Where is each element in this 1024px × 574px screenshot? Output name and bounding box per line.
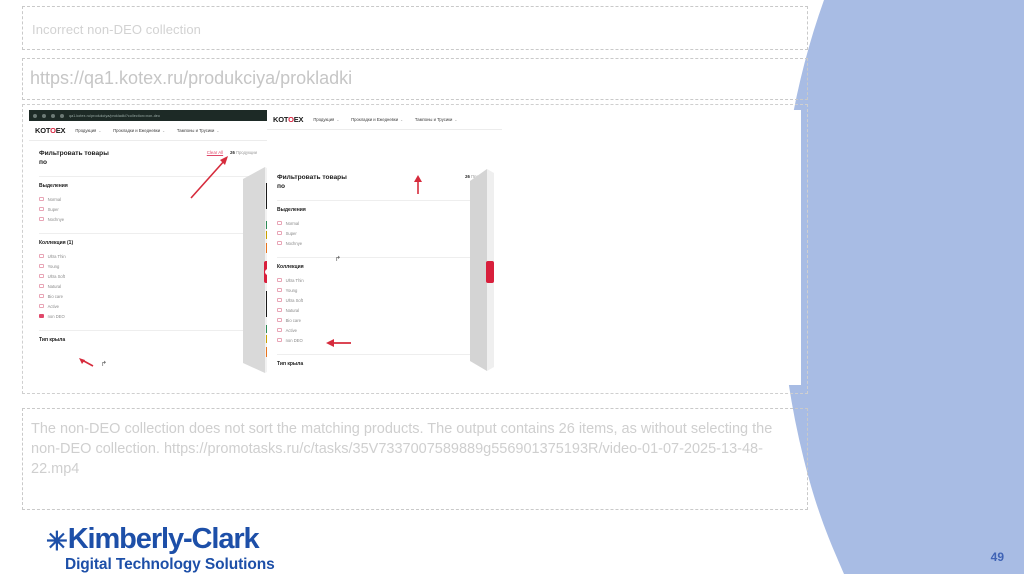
filter-group-title: Выделения (39, 183, 68, 189)
filter-option[interactable]: Super (277, 228, 492, 238)
screenshot-left-pane: qa1.kotex.ru/produkciya/prokladki?collec… (29, 110, 267, 385)
browser-reload-icon[interactable] (51, 114, 55, 118)
filter-group-title: Выделения (277, 207, 306, 213)
nav-label: Прокладки и Ежедневки (351, 117, 398, 122)
checkbox-icon[interactable] (39, 274, 44, 279)
filter-options: Normal Super Nochnye (39, 194, 257, 224)
nav-item-produkciya[interactable]: Продукция ⌄ (313, 117, 339, 122)
kotex-logo-kot: KOT (35, 126, 50, 135)
filter-group-kollekciya: Коллекция (1) ∧ Ultra Thin Young (39, 233, 257, 321)
filter-option-label: Super (286, 231, 297, 236)
filter-option[interactable]: Active (277, 325, 492, 335)
product-count-number: 26 (230, 150, 235, 155)
filter-group-vydeleniya: Выделения ∧ Normal Super (277, 200, 492, 248)
checkbox-icon[interactable] (277, 288, 282, 293)
filter-group-tip-kryla: Тип крыла ∧ (277, 354, 492, 367)
chevron-down-icon: ⌄ (216, 129, 219, 133)
kotex-logo[interactable]: KOTOEX (273, 115, 303, 124)
chevron-down-icon: ⌄ (454, 118, 457, 122)
nav-item-tampony[interactable]: Тампоны и Трусики ⌄ (415, 117, 457, 122)
brand-tagline: Digital Technology Solutions (65, 556, 275, 573)
filter-group-tip-kryla: Тип крыла ∧ (39, 330, 257, 343)
checkbox-icon[interactable] (277, 298, 282, 303)
filter-option[interactable]: Nochnye (39, 214, 257, 224)
slide-canvas: Incorrect non-DEO collection https://qa1… (0, 0, 1024, 574)
nav-label: Продукция (313, 117, 334, 122)
kimberly-clark-logo: ✳Kimberly-Clark Digital Technology Solut… (46, 524, 275, 573)
browser-address-input[interactable]: qa1.kotex.ru/produkciya/prokladki?collec… (69, 114, 160, 118)
filter-group-header[interactable]: Тип крыла ∧ (39, 337, 257, 343)
checkbox-icon[interactable] (39, 304, 44, 309)
nav-item-tampony[interactable]: Тампоны и Трусики ⌄ (177, 128, 219, 133)
checkbox-icon[interactable] (277, 318, 282, 323)
page-title: Incorrect non-DEO collection (32, 22, 201, 37)
filter-title: Фильтровать товары по (277, 173, 347, 191)
filter-option[interactable]: Bio care (39, 291, 257, 301)
filter-option-label: Normal (48, 197, 62, 202)
clear-all-button[interactable]: Clear All (207, 150, 223, 155)
chevron-down-icon: ⌄ (336, 118, 339, 122)
filter-group-title: Тип крыла (277, 361, 303, 367)
filter-group-header[interactable]: Выделения ∧ (39, 183, 257, 189)
page-number: 49 (991, 550, 1004, 564)
filter-header-left: Фильтровать товары по Clear All 26 Проду… (39, 149, 257, 167)
filter-group-title: Коллекция (1) (39, 240, 73, 246)
page-url[interactable]: https://qa1.kotex.ru/produkciya/prokladk… (30, 68, 352, 89)
filter-option[interactable]: Normal (277, 218, 492, 228)
browser-toolbar: qa1.kotex.ru/produkciya/prokladki?collec… (29, 110, 267, 121)
checkbox-icon[interactable] (39, 217, 44, 222)
filter-option[interactable]: Natural (39, 281, 257, 291)
chevron-down-icon: ⌄ (98, 129, 101, 133)
filter-option[interactable]: Natural (277, 305, 492, 315)
filter-option-non-deo[interactable]: non DEO (277, 335, 492, 345)
brand-name: Kimberly-Clark (68, 523, 259, 555)
site-nav-right: Продукция ⌄ Прокладки и Ежедневки ⌄ Тамп… (313, 117, 457, 122)
filter-option-label: Young (48, 264, 60, 269)
filter-option[interactable]: Super (39, 204, 257, 214)
filter-header-actions: Clear All 26 Продукции (207, 149, 257, 155)
browser-forward-icon[interactable] (42, 114, 46, 118)
filter-group-title: Коллекция (277, 264, 304, 270)
filter-option-non-deo[interactable]: non DEO (39, 311, 257, 321)
filter-option-label: Active (286, 328, 297, 333)
filter-group-header[interactable]: Тип крыла ∧ (277, 361, 492, 367)
nav-label: Прокладки и Ежедневки (113, 128, 160, 133)
nav-item-prokladki[interactable]: Прокладки и Ежедневки ⌄ (351, 117, 403, 122)
checkbox-icon[interactable] (277, 231, 282, 236)
filter-option-label: non DEO (48, 314, 65, 319)
filter-option-label: Young (286, 288, 298, 293)
nav-item-prokladki[interactable]: Прокладки и Ежедневки ⌄ (113, 128, 165, 133)
filter-option-label: Ultra Soft (48, 274, 65, 279)
filter-option[interactable]: Active (39, 301, 257, 311)
filter-options: Normal Super Nochnye (277, 218, 492, 248)
filter-group-title: Тип крыла (39, 337, 65, 343)
checkbox-icon[interactable] (277, 328, 282, 333)
filter-option-label: Active (48, 304, 59, 309)
site-header-right: KOTOEX Продукция ⌄ Прокладки и Ежедневки… (267, 110, 502, 130)
checkbox-icon[interactable] (39, 197, 44, 202)
filter-option[interactable]: Nochnye (277, 238, 492, 248)
kotex-logo[interactable]: KOTOEX (35, 126, 65, 135)
product-pack-image-right (467, 165, 497, 377)
browser-back-icon[interactable] (33, 114, 37, 118)
filter-option-label: Natural (48, 284, 62, 289)
embedded-screenshot: qa1.kotex.ru/produkciya/prokladki?collec… (29, 110, 801, 385)
checkbox-icon[interactable] (277, 338, 282, 343)
filter-option[interactable]: Young (39, 261, 257, 271)
filter-option[interactable]: Normal (39, 194, 257, 204)
product-count: 26 Продукции (230, 150, 257, 155)
product-count-label: Продукции (236, 150, 257, 155)
filter-option[interactable]: Ultra Soft (39, 271, 257, 281)
filter-options: Ultra Thin Young Ultra Soft Natural (277, 275, 492, 345)
nav-label: Тампоны и Трусики (415, 117, 452, 122)
checkbox-icon[interactable] (277, 221, 282, 226)
filter-option-label: Nochnye (286, 241, 303, 246)
filter-option-label: Natural (286, 308, 300, 313)
kotex-logo-ex: EX (294, 115, 304, 124)
filter-option-label: Bio care (48, 294, 63, 299)
checkbox-checked-icon[interactable] (39, 314, 44, 319)
checkbox-icon[interactable] (39, 254, 44, 259)
filter-option[interactable]: Ultra Thin (39, 251, 257, 261)
filter-group-header[interactable]: Коллекция (1) ∧ (39, 240, 257, 246)
nav-item-produkciya[interactable]: Продукция ⌄ (75, 128, 101, 133)
filter-group-kollekciya: Коллекция ∧ Ultra Thin Young (277, 257, 492, 345)
filter-group-header[interactable]: Коллекция ∧ (277, 264, 492, 270)
filter-option[interactable]: Ultra Soft (277, 295, 492, 305)
chevron-down-icon: ⌄ (162, 129, 165, 133)
checkbox-icon[interactable] (39, 294, 44, 299)
nav-label: Тампоны и Трусики (177, 128, 214, 133)
asterisk-icon: ✳ (46, 526, 67, 556)
filter-option[interactable]: Young (277, 285, 492, 295)
filter-option[interactable]: Ultra Thin (277, 275, 492, 285)
page-body-text: The non-DEO collection does not sort the… (31, 419, 791, 479)
chevron-down-icon: ⌄ (400, 118, 403, 122)
filter-option-label: Super (48, 207, 59, 212)
filter-group-header[interactable]: Выделения ∧ (277, 207, 492, 213)
kotex-logo-ex: EX (56, 126, 66, 135)
filter-group-vydeleniya: Выделения ∧ Normal Super (39, 176, 257, 224)
nav-label: Продукция (75, 128, 96, 133)
checkbox-icon[interactable] (39, 264, 44, 269)
site-header-left: KOTOEX Продукция ⌄ Прокладки и Ежедневки… (29, 121, 267, 141)
filter-title: Фильтровать товары по (39, 149, 109, 167)
checkbox-icon[interactable] (277, 241, 282, 246)
filter-options: Ultra Thin Young Ultra Soft Natural (39, 251, 257, 321)
filter-header-right: Фильтровать товары по 26 Продукции (277, 173, 492, 191)
filter-option-label: Ultra Soft (286, 298, 303, 303)
site-nav-left: Продукция ⌄ Прокладки и Ежедневки ⌄ Тамп… (75, 128, 219, 133)
browser-lock-icon (60, 114, 64, 118)
filter-option-label: Ultra Thin (48, 254, 66, 259)
kotex-logo-kot: KOT (273, 115, 288, 124)
filter-option-label: Nochnye (48, 217, 65, 222)
kimberly-clark-wordmark: ✳Kimberly-Clark (46, 524, 275, 556)
filter-option-label: non DEO (286, 338, 303, 343)
checkbox-icon[interactable] (39, 284, 44, 289)
filter-option-label: Ultra Thin (286, 278, 304, 283)
checkbox-icon[interactable] (277, 278, 282, 283)
filter-option-label: Bio care (286, 318, 301, 323)
checkbox-icon[interactable] (277, 308, 282, 313)
checkbox-icon[interactable] (39, 207, 44, 212)
filter-sidebar-left: Фильтровать товары по Clear All 26 Проду… (29, 141, 267, 385)
filter-option[interactable]: Bio care (277, 315, 492, 325)
filter-option-label: Normal (286, 221, 300, 226)
